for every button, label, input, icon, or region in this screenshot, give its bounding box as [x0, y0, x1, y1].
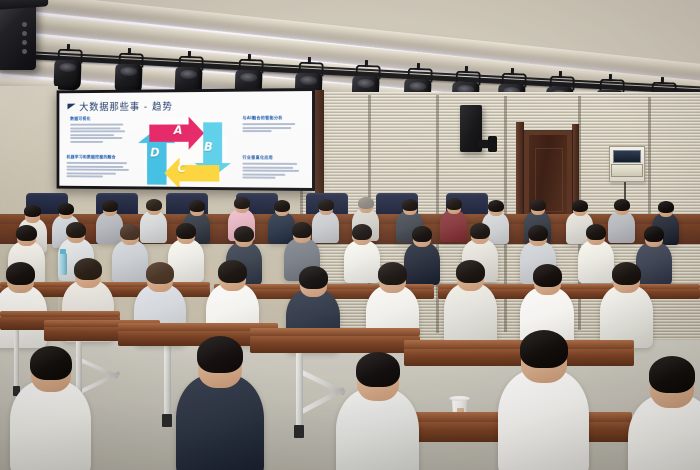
cycle-label-d: D: [150, 146, 159, 160]
person-hair: [530, 199, 546, 211]
slide-text-block: 机器学习和数据挖掘的融合: [67, 154, 131, 179]
person-hair: [533, 264, 562, 287]
lecture-desk: [250, 336, 420, 353]
person-hair: [446, 198, 462, 210]
person-hair: [234, 226, 254, 242]
cycle-label-b: B: [204, 140, 213, 154]
person-hair: [658, 201, 674, 213]
control-panel-screen-icon: [613, 150, 641, 163]
person-hair: [146, 199, 162, 211]
slide-text-block: 数据可视化: [70, 116, 127, 145]
slide-surface: 大数据那些事 - 趋势 数据可视化: [59, 91, 312, 188]
person-hair: [402, 199, 418, 211]
person-hair: [520, 330, 568, 368]
person-hair: [528, 225, 548, 241]
audience-person: [0, 262, 47, 354]
audience-person: [10, 346, 91, 470]
person-hair: [356, 352, 400, 387]
person-torso: [444, 283, 497, 346]
slide-text-block: 与AI融合的智能分析: [242, 115, 299, 134]
paper-cup-rim: [449, 396, 470, 401]
person-torso: [600, 285, 653, 348]
person-hair: [30, 346, 72, 380]
person-torso: [498, 369, 589, 470]
projection-screen: 大数据那些事 - 趋势 数据可视化: [57, 88, 315, 191]
person-hair: [644, 226, 664, 242]
audience-person: [336, 352, 419, 470]
ceiling-camera: [0, 0, 36, 70]
person-hair: [176, 223, 196, 239]
person-hair: [586, 224, 606, 240]
person-hair: [456, 260, 485, 283]
person-hair: [66, 222, 86, 238]
person-hair: [234, 197, 250, 209]
person-hair: [649, 356, 695, 393]
cycle-label-c: C: [177, 161, 185, 175]
person-hair: [352, 224, 372, 240]
person-hair: [358, 197, 374, 209]
audience-person: [444, 260, 497, 352]
bottle-cap: [60, 249, 66, 254]
text-lines: [67, 162, 131, 178]
slide-body: 数据可视化 机器学习和数据挖掘的融合: [59, 111, 312, 188]
person-hair: [74, 258, 102, 280]
person-hair: [58, 203, 74, 215]
person-hair: [292, 222, 312, 238]
text-lines: [70, 124, 127, 143]
audience-person: [176, 336, 264, 470]
cycle-label-a: A: [174, 123, 183, 137]
person-hair: [470, 223, 490, 239]
text-lines: [242, 123, 299, 132]
person-hair: [412, 226, 432, 242]
person-hair: [299, 266, 328, 289]
person-hair: [102, 200, 118, 212]
cycle-diagram: D A B C: [136, 114, 234, 188]
person-hair: [16, 225, 37, 241]
slide-text-block: 行业垂直化应用: [242, 155, 301, 181]
person-hair: [572, 200, 588, 212]
person-torso: [176, 374, 264, 470]
person-torso: [10, 380, 91, 470]
person-hair: [146, 262, 174, 284]
person-hair: [24, 205, 41, 217]
audience-person: [628, 356, 700, 470]
person-hair: [378, 262, 407, 285]
text-lines: [242, 163, 301, 180]
person-hair: [120, 224, 140, 240]
person-hair: [612, 262, 641, 285]
person-hair: [614, 199, 630, 211]
person-hair: [318, 199, 334, 211]
control-panel-keypad[interactable]: [611, 164, 643, 177]
person-hair: [488, 200, 504, 212]
person-hair: [197, 336, 243, 373]
person-hair: [274, 200, 290, 212]
person-hair: [6, 262, 35, 285]
triangle-bullet-icon: [67, 103, 75, 109]
speaker-mount-bracket: [488, 136, 497, 152]
lecture-hall-photo: 大数据那些事 - 趋势 数据可视化: [0, 0, 700, 470]
person-hair: [189, 200, 205, 212]
person-hair: [218, 260, 247, 283]
audience-person: [498, 330, 589, 470]
